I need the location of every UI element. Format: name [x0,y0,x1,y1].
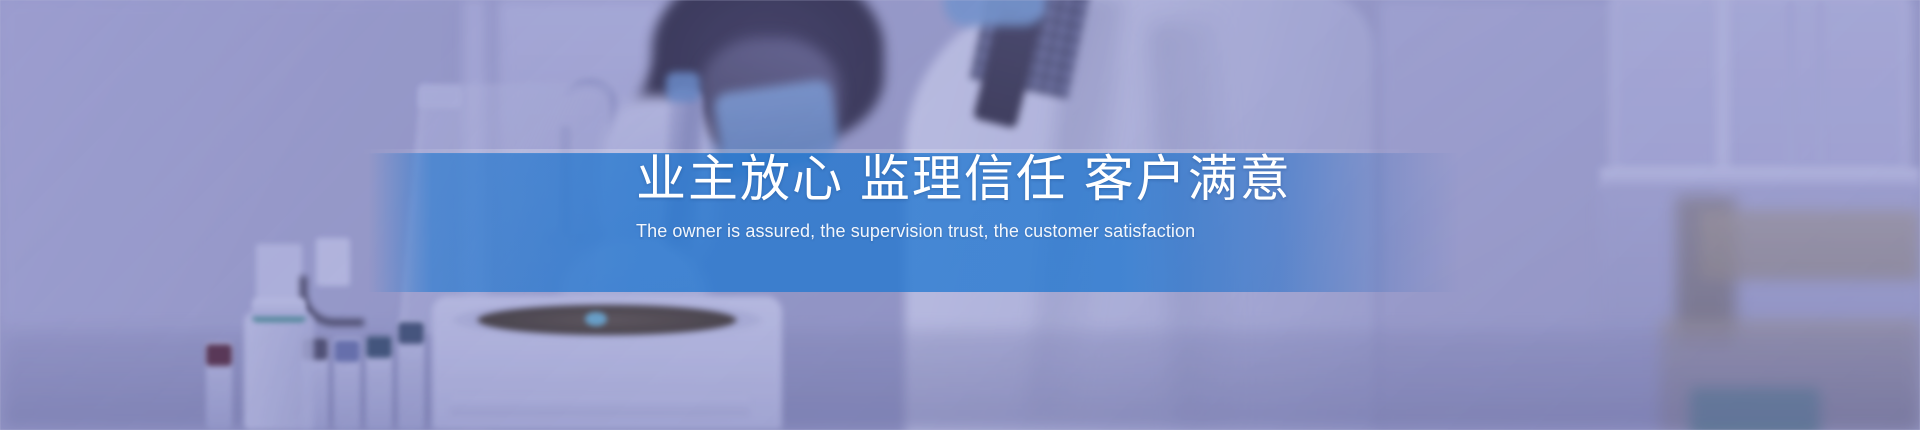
hero-banner: 业主放心 监理信任 客户满意 The owner is assured, the… [0,0,1920,430]
slogan-primary-chinese: 业主放心 监理信任 客户满意 [636,146,1336,212]
slogan-block: 业主放心 监理信任 客户满意 The owner is assured, the… [636,146,1336,244]
slogan-secondary-english: The owner is assured, the supervision tr… [636,218,1336,244]
